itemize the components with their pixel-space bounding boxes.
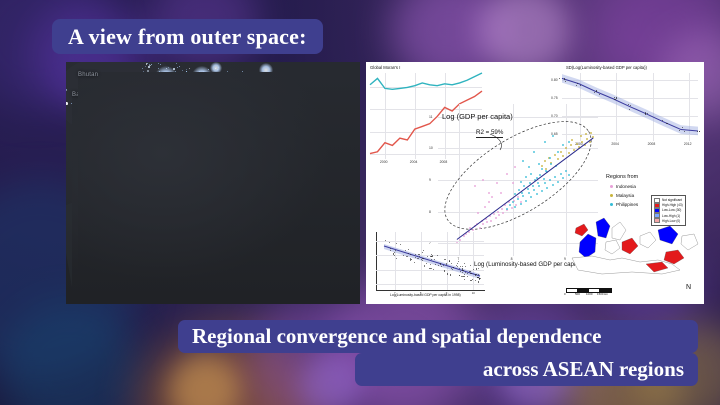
sigma-point [599,94,600,95]
beta-point [422,252,423,253]
scatter-point [552,184,554,186]
city-light [66,102,68,105]
choropleth-region [605,240,620,254]
scatter-point [544,182,546,184]
scatter-point [533,189,535,191]
scatter-point [472,229,474,231]
choropleth-region [579,234,596,258]
scale-label: 0 [564,292,566,296]
legend-label: Philippines [616,202,638,207]
legend-swatch [610,185,613,188]
beta-point [450,274,451,275]
beta-point [462,268,463,269]
beta-inset-xlabel: Log(Luminosity-based GDP per capita in 1… [390,293,461,297]
beta-point [449,260,450,261]
slide-canvas: A view from outer space: Myanmar(Burma)L… [0,0,720,405]
beta-point [459,268,460,269]
city-light [148,66,150,68]
beta-point [427,256,428,257]
city-light [160,64,161,65]
lisa-label: Not significant [662,198,682,202]
beta-point [463,276,464,277]
scatter-point [541,168,543,170]
city-light [145,66,146,67]
scatter-point [512,201,514,203]
sigma-point [616,97,617,98]
legend-label: Malaysia [616,193,634,198]
legend-swatch [610,194,613,197]
beta-point [418,258,419,259]
beta-point [410,254,411,255]
scatter-point [484,206,486,208]
y-tick-label: 0.80 [551,78,558,82]
scatter-point [536,193,538,195]
scale-label: 1500 km [597,292,608,296]
legend-label: Indonesia [616,184,636,189]
beta-point [430,256,431,257]
beta-point [467,273,468,274]
beta-point [406,256,407,257]
x-tick-label: 2004 [611,142,619,146]
y-tick-label: 8 [429,210,431,214]
beta-point [418,254,419,255]
sigma-point [684,131,685,132]
scatter-point [525,200,527,202]
scatter-point [501,208,503,210]
scatter-point [552,135,554,137]
beta-point [389,242,390,243]
scatter-point [568,141,570,143]
scatter-point [576,143,578,145]
beta-point [431,256,432,257]
lisa-label: High-High (43) [662,203,683,207]
nighttime-lights-map: Myanmar(Burma)LaosThailandVietnamCambodi… [66,62,360,304]
scatter-point [495,217,497,219]
scatter-point [500,192,502,194]
beta-point [479,278,480,279]
beta-point [462,272,463,273]
scatter-point [537,182,539,184]
beta-point [421,259,422,260]
legend-item-philippines: Philippines [610,202,638,207]
moran-series [370,73,482,89]
beta-trend [376,232,484,290]
y-tick-label: 11 [429,115,433,119]
beta-inset-chart: 78910growth rate 1998-2013 [376,232,484,290]
beta-point [470,280,471,281]
convergence-figure-panel: Global Moran's I 0.7000.7250.7500.775200… [366,62,704,304]
moran-inset-title: Global Moran's I [370,65,400,70]
sigma-point [565,81,566,82]
beta-point [478,281,479,282]
beta-point [410,260,411,261]
beta-point [470,273,471,274]
scatter-point [525,176,527,178]
beta-point [438,265,439,266]
scale-label: 500 [575,292,580,296]
scatter-point [568,174,570,176]
scatter-point [488,192,490,194]
scatter-point [518,189,520,191]
legend-item-indonesia: Indonesia [610,184,636,189]
beta-point [429,268,430,269]
scatter-point [549,157,551,159]
x-tick-label: 2008 [648,142,656,146]
scatter-point [549,179,551,181]
scatter-point [541,165,543,167]
y-tick-label: 9 [429,178,431,182]
beta-point [441,266,442,267]
x-tick-label: 2000 [380,160,388,164]
scatter-point [557,151,559,153]
regions-legend-title: Regions from [606,174,638,180]
map-label: Bhutan [78,72,360,304]
choropleth-region [640,232,656,248]
scatter-point [512,182,514,184]
scatter-point [557,181,559,183]
choropleth-region [681,234,698,250]
scatter-point [520,181,522,183]
beta-point [459,275,460,276]
scale-label: 1000 [586,292,592,296]
choropleth-region [596,218,610,238]
scatter-point [517,198,519,200]
sigma-point [662,120,663,121]
asean-choropleth [562,212,700,284]
north-arrow-icon: N [686,284,691,291]
x-tick-label: 2004 [410,160,418,164]
scatter-point [533,151,535,153]
scatter-point [520,203,522,205]
sigma-point [596,90,597,91]
scatter-point [560,173,562,175]
city-light [151,64,152,65]
scatter-point [544,141,546,143]
x-tick-label: 10 [472,291,475,295]
scatter-point [581,141,583,143]
beta-point [422,258,423,259]
beta-point [431,259,432,260]
sigma-point [564,78,565,79]
scatter-point [590,132,592,134]
scatter-point [565,170,567,172]
scatter-point [511,207,513,209]
scatter-point [496,182,498,184]
beta-point [464,263,465,264]
beta-point [424,266,425,267]
choropleth-region [664,250,684,264]
scatter-point [560,151,562,153]
sigma-point [699,131,700,132]
y-tick-label: 0.75 [551,96,558,100]
scatter-point [544,160,546,162]
city-light [177,67,178,68]
beta-point [464,279,465,280]
scatter-point [488,201,490,203]
slide-title-bottom-line2: across ASEAN regions [355,353,698,386]
sigma-point [645,112,646,113]
beta-point [431,254,432,255]
scatter-point [479,227,481,229]
beta-point [444,270,445,271]
scatter-point [532,185,534,187]
r2-annotation: R2 = 59% [476,129,503,138]
legend-item-malaysia: Malaysia [610,193,634,198]
city-light [186,69,187,70]
choropleth-region [575,224,588,236]
slide-title-bottom-line1: Regional convergence and spatial depende… [178,320,698,353]
scatter-point [528,192,530,194]
beta-point [478,274,479,275]
y-tick-label: 10 [429,146,433,150]
main-chart-ylabel: Log (GDP per capita) [442,112,513,121]
choropleth-region [658,226,678,244]
legend-swatch [610,203,613,206]
beta-point [480,278,481,279]
beta-point [477,277,478,278]
sigma-inset-title: SD(Log(Luminosity-based GDP per capita)) [566,65,647,70]
beta-point [430,264,431,265]
scatter-point [580,135,582,137]
beta-point [475,280,476,281]
beta-point [419,256,420,257]
choropleth-region [622,238,638,254]
sigma-point [645,113,646,114]
choropleth-region [612,222,626,240]
beta-point [440,263,441,264]
x-tick-label: 2012 [684,142,692,146]
beta-point [447,273,448,274]
scatter-point [497,211,499,213]
sigma-point [697,131,698,132]
sigma-point [629,109,630,110]
lisa-choropleth-map [562,212,700,284]
city-light [176,63,177,64]
slide-title-top: A view from outer space: [52,19,323,54]
city-light [142,68,143,69]
sigma-point [559,78,560,79]
